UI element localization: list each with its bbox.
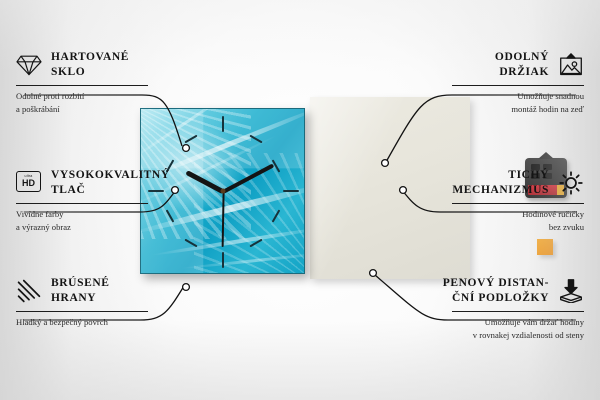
infographic-canvas: HARTOVANÉ SKLO Odolné proti rozbití a po… [0, 0, 600, 400]
feature-desc-line: Umožňuje vám držať hodiny [394, 316, 584, 328]
divider [452, 85, 584, 86]
feature-title-line: VYSOKOKVALITNÝ [51, 168, 170, 183]
foam-spacer-pad [537, 239, 553, 255]
feature-silent-mechanism: TICHÝ MECHANIZMUS Hodinové ručičky bez z… [394, 168, 584, 233]
feature-title-line: SKLO [51, 65, 129, 80]
feature-desc-line: Vivídne farby [16, 208, 206, 220]
gear-icon [558, 171, 584, 195]
feature-ground-edges: BRÚSENÉ HRANY Hladký a bezpečný povrch [16, 276, 206, 329]
press-down-pad-icon [558, 279, 584, 303]
feature-title-line: HRANY [51, 291, 110, 306]
feature-desc-line: bez zvuku [394, 221, 584, 233]
feature-desc-line: a výrazný obraz [16, 221, 206, 233]
divider [16, 203, 148, 204]
feature-desc-line: montáž hodin na zeď [394, 103, 584, 115]
feature-title-line: MECHANIZMUS [452, 183, 549, 198]
feature-desc-line: v rovnakej vzdialenosti od steny [394, 329, 584, 341]
feature-title-line: DRŽIAK [495, 65, 549, 80]
hd-label: HD [22, 179, 35, 188]
feature-desc-line: Umožňuje snadnou [394, 90, 584, 102]
feature-desc-line: a poškrábání [16, 103, 206, 115]
feature-high-quality-print: ultra HD VYSOKOKVALITNÝ TLAČ Vivídne far… [16, 168, 206, 233]
picture-frame-icon [558, 53, 584, 77]
feature-foam-spacers: PENOVÝ DISTAN- ČNÍ PODLOŽKY Umožňuje vám… [394, 276, 584, 341]
feature-desc-line: Hodinové ručičky [394, 208, 584, 220]
feature-hardened-glass: HARTOVANÉ SKLO Odolné proti rozbití a po… [16, 50, 206, 115]
feature-title-line: TLAČ [51, 183, 170, 198]
second-hand [222, 192, 225, 247]
divider [16, 311, 148, 312]
feature-title-line: PENOVÝ DISTAN- [443, 276, 549, 291]
feature-title-line: BRÚSENÉ [51, 276, 110, 291]
feature-title-line: ODOLNÝ [495, 50, 549, 65]
feature-title-line: ČNÍ PODLOŽKY [443, 291, 549, 306]
feature-title-line: TICHÝ [452, 168, 549, 183]
divider [452, 203, 584, 204]
diagonal-lines-icon [16, 279, 42, 303]
ultra-hd-icon: ultra HD [16, 171, 42, 195]
feature-title-line: HARTOVANÉ [51, 50, 129, 65]
diamond-icon [16, 53, 42, 77]
divider [452, 311, 584, 312]
feature-durable-holder: ODOLNÝ DRŽIAK Umožňuje snadnou montáž ho… [394, 50, 584, 115]
feature-desc-line: Odolné proti rozbití [16, 90, 206, 102]
divider [16, 85, 148, 86]
clock-center-hub [220, 189, 225, 194]
feature-desc-line: Hladký a bezpečný povrch [16, 316, 206, 328]
